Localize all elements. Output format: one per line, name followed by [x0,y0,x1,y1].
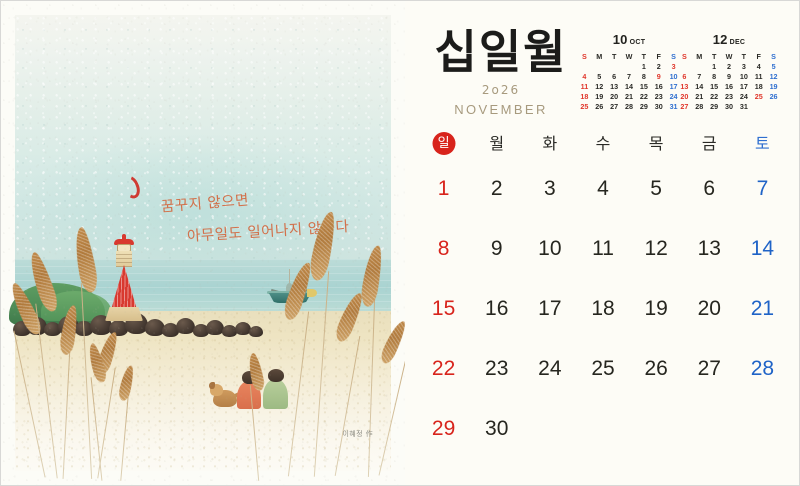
year-label: 2o26 [411,83,591,97]
mini-month-abbr: DEC [730,39,746,46]
mini-day-cell[interactable]: 7 [692,72,707,81]
mini-day-cell[interactable]: 31 [736,102,751,111]
mini-weekday-header: S [766,52,781,61]
mini-day-cell[interactable]: 27 [677,102,692,111]
mini-day-cell[interactable]: 20 [607,92,622,101]
mini-day-empty [622,62,637,71]
month-title-korean: 십일월 [411,29,591,75]
mini-day-empty [766,102,781,111]
day-cell[interactable]: 8 [417,219,470,279]
mini-day-cell[interactable]: 30 [651,102,666,111]
mini-day-cell[interactable]: 5 [592,72,607,81]
day-cell-empty [576,399,629,459]
day-cell[interactable]: 21 [736,279,789,339]
day-cell[interactable]: 5 [630,159,683,219]
weekday-header-row: 일월화수목금토 [417,129,789,159]
mini-day-cell[interactable]: 5 [766,62,781,71]
mini-calendar-october-grid[interactable]: SMTWTFS123456789101112131415161718192021… [577,52,681,111]
mini-day-cell[interactable]: 8 [707,72,722,81]
day-cell[interactable]: 13 [683,219,736,279]
mini-day-cell[interactable]: 3 [736,62,751,71]
mini-day-cell[interactable]: 12 [592,82,607,91]
mini-day-cell[interactable]: 20 [677,92,692,101]
mini-day-cell[interactable]: 26 [592,102,607,111]
mini-day-cell[interactable]: 9 [651,72,666,81]
mini-day-cell[interactable]: 23 [722,92,737,101]
day-cell[interactable]: 27 [683,339,736,399]
week-row: 22232425262728 [417,339,789,399]
day-cell-empty [683,399,736,459]
mini-day-cell[interactable]: 29 [636,102,651,111]
calendar-page: 꿈꾸지 않으면 아무일도 일어나지 않는다 [0,0,800,486]
mini-weekday-header: F [751,52,766,61]
weekday-header-1: 월 [470,129,523,159]
mini-weekday-header: S [677,52,692,61]
mini-day-cell[interactable]: 16 [722,82,737,91]
mini-day-cell[interactable]: 12 [766,72,781,81]
day-cell[interactable]: 29 [417,399,470,459]
week-row: 15161718192021 [417,279,789,339]
mini-month-abbr: OCT [630,39,646,46]
day-cell[interactable]: 15 [417,279,470,339]
mini-day-cell[interactable]: 24 [736,92,751,101]
mini-weekday-header: W [722,52,737,61]
mini-day-cell[interactable]: 7 [622,72,637,81]
day-cell-empty [523,399,576,459]
pampas-grass-mid-right [235,349,299,481]
weekday-header-3: 수 [576,129,629,159]
mini-day-cell[interactable]: 21 [692,92,707,101]
day-cell[interactable]: 11 [576,219,629,279]
artist-signature: 이혜정 作 [342,429,373,439]
illustration-panel: 꿈꾸지 않으면 아무일도 일어나지 않는다 [1,1,405,485]
day-cell[interactable]: 4 [576,159,629,219]
mini-weekday-header: T [636,52,651,61]
mini-day-cell[interactable]: 10 [736,72,751,81]
mini-weekday-header: T [707,52,722,61]
mini-day-cell[interactable]: 19 [766,82,781,91]
week-row: 2930 [417,399,789,459]
weeks-container[interactable]: 1234567891011121314151617181920212223242… [417,159,789,459]
mini-day-cell[interactable]: 25 [577,102,592,111]
mini-weekday-header: T [736,52,751,61]
day-cell-empty [736,399,789,459]
mini-weekday-header: S [577,52,592,61]
dog-ear [209,382,215,389]
mini-day-cell[interactable]: 30 [722,102,737,111]
mini-calendar-december[interactable]: 12DEC SMTWTFS123456789101112131415161718… [677,31,781,111]
mini-day-cell[interactable]: 1 [636,62,651,71]
day-cell[interactable]: 17 [523,279,576,339]
mini-day-cell[interactable]: 19 [592,92,607,101]
mini-day-cell[interactable]: 2 [722,62,737,71]
mini-day-empty [607,62,622,71]
mini-day-cell[interactable]: 22 [707,92,722,101]
mini-month-number: 10 [613,32,628,47]
day-cell[interactable]: 19 [630,279,683,339]
mini-day-cell[interactable]: 14 [622,82,637,91]
mini-calendar-october[interactable]: 10OCT SMTWTFS123456789101112131415161718… [577,31,681,111]
mini-calendar-december-header: 12DEC [677,31,781,49]
mini-day-cell[interactable]: 15 [636,82,651,91]
weekday-header-5: 금 [683,129,736,159]
mini-weekday-header: W [622,52,637,61]
day-cell[interactable]: 14 [736,219,789,279]
day-cell[interactable]: 2 [470,159,523,219]
day-cell[interactable]: 16 [470,279,523,339]
mini-day-cell[interactable]: 28 [692,102,707,111]
quote-line-1: 꿈꾸지 않으면 [161,194,250,216]
mini-day-cell[interactable]: 27 [607,102,622,111]
day-cell[interactable]: 12 [630,219,683,279]
mini-day-cell[interactable]: 29 [707,102,722,111]
mini-day-cell[interactable]: 6 [677,72,692,81]
mini-weekday-header: F [651,52,666,61]
mini-day-cell[interactable]: 1 [707,62,722,71]
day-cell-empty [630,399,683,459]
weekday-header-sunday: 일 [417,129,470,159]
mini-day-cell[interactable]: 23 [651,92,666,101]
mini-day-cell[interactable]: 4 [577,72,592,81]
mini-month-number: 12 [713,32,728,47]
mini-day-cell[interactable]: 21 [622,92,637,101]
sunday-badge: 일 [432,132,455,155]
day-cell[interactable]: 7 [736,159,789,219]
mini-weekday-header: T [607,52,622,61]
mini-day-cell[interactable]: 26 [766,92,781,101]
mini-day-cell[interactable]: 15 [707,82,722,91]
mini-day-cell[interactable]: 28 [622,102,637,111]
weekday-header-6: 토 [736,129,789,159]
mini-calendar-october-header: 10OCT [577,31,681,49]
mini-day-cell[interactable]: 4 [751,62,766,71]
mini-day-empty [692,62,707,71]
day-cell[interactable]: 22 [417,339,470,399]
mini-day-empty [592,62,607,71]
mini-day-cell[interactable]: 22 [636,92,651,101]
mini-day-empty [677,62,692,71]
mini-day-cell[interactable]: 6 [607,72,622,81]
day-cell[interactable]: 20 [683,279,736,339]
mini-day-cell[interactable]: 18 [577,92,592,101]
day-cell[interactable]: 28 [736,339,789,399]
day-cell[interactable]: 6 [683,159,736,219]
month-title-english: NOVEMBER [411,102,591,117]
week-row: 1234567 [417,159,789,219]
day-cell[interactable]: 23 [470,339,523,399]
mini-day-cell[interactable]: 11 [751,72,766,81]
mini-day-cell[interactable]: 17 [736,82,751,91]
mini-weekday-header: M [692,52,707,61]
mini-day-cell[interactable]: 11 [577,82,592,91]
day-cell[interactable]: 3 [523,159,576,219]
artwork: 꿈꾸지 않으면 아무일도 일어나지 않는다 [15,15,391,471]
mini-day-empty [751,102,766,111]
week-row: 891011121314 [417,219,789,279]
month-grid[interactable]: 일월화수목금토 12345678910111213141516171819202… [417,129,789,459]
mini-calendar-december-grid[interactable]: SMTWTFS123456789101112131415161718192021… [677,52,781,111]
weekday-header-4: 목 [630,129,683,159]
mini-day-cell[interactable]: 16 [651,82,666,91]
day-cell[interactable]: 1 [417,159,470,219]
day-cell[interactable]: 24 [523,339,576,399]
mini-day-cell[interactable]: 2 [651,62,666,71]
day-cell[interactable]: 10 [523,219,576,279]
day-cell[interactable]: 18 [576,279,629,339]
mini-day-empty [577,62,592,71]
mini-day-cell[interactable]: 18 [751,82,766,91]
mini-day-cell[interactable]: 8 [636,72,651,81]
mini-day-cell[interactable]: 14 [692,82,707,91]
mini-day-cell[interactable]: 13 [607,82,622,91]
pampas-grass-mid-left [79,331,151,481]
weekday-header-2: 화 [523,129,576,159]
mini-weekday-header: M [592,52,607,61]
mini-day-cell[interactable]: 9 [722,72,737,81]
mini-day-cell[interactable]: 25 [751,92,766,101]
calendar-panel: 십일월 2o26 NOVEMBER 10OCT SMTWTFS123456789… [405,1,799,485]
day-cell[interactable]: 30 [470,399,523,459]
day-cell[interactable]: 9 [470,219,523,279]
mini-day-cell[interactable]: 13 [677,82,692,91]
day-cell[interactable]: 25 [576,339,629,399]
day-cell[interactable]: 26 [630,339,683,399]
